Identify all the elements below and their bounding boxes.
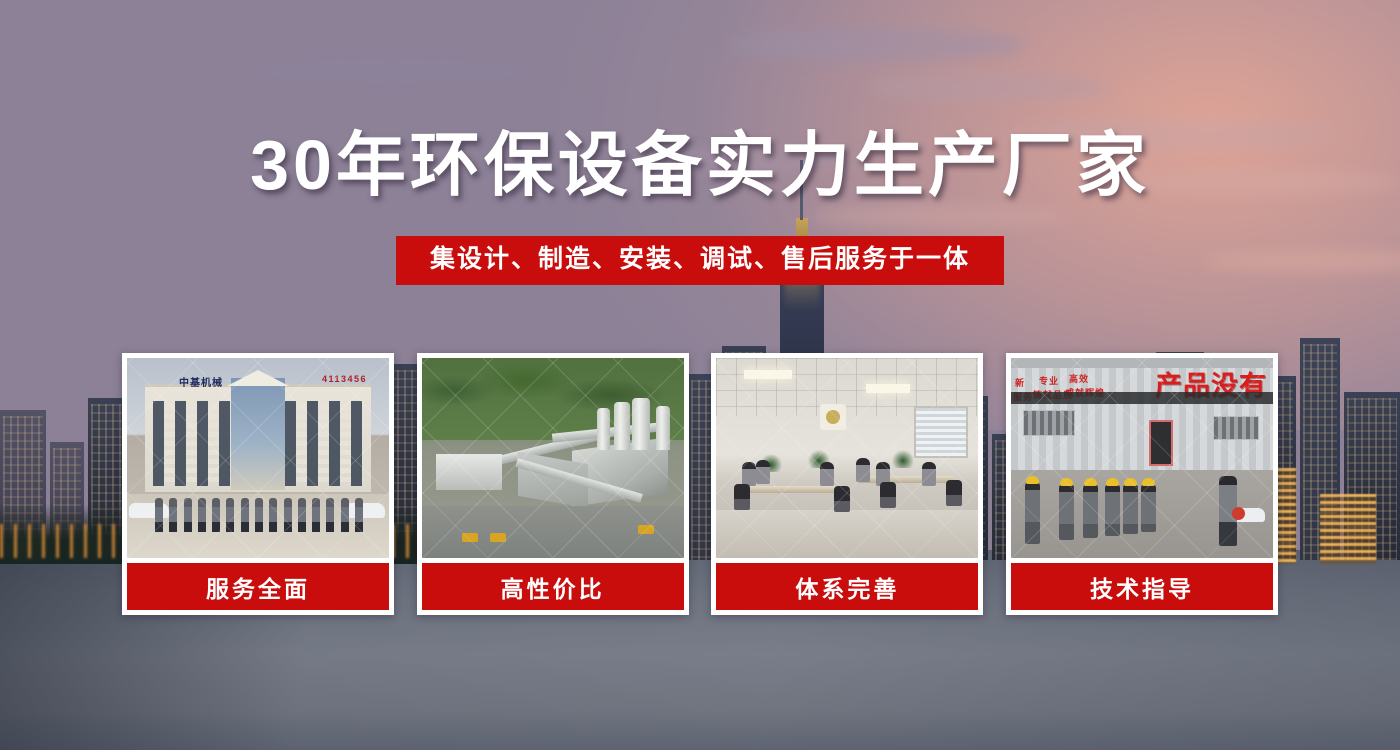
feature-card-caption: 技术指导: [1011, 563, 1273, 610]
cloud-shape: [252, 58, 532, 84]
illuminated-block: [1320, 494, 1376, 564]
factory-banner-small-text: 高效: [1069, 372, 1089, 385]
building-phone-text: 4113456: [322, 374, 367, 384]
subtitle-banner-wrap: 集设计、制造、安装、调试、售后服务于一体: [0, 236, 1400, 285]
factory-banner-small-text: 专业: [1039, 374, 1059, 387]
cloud-shape: [812, 205, 1072, 227]
cloud-shape: [868, 74, 1108, 100]
feature-card-list: 中基机械 4113456 服务全面: [122, 353, 1278, 615]
feature-card-caption: 高性价比: [422, 563, 684, 610]
page-title: 30年环保设备实力生产厂家: [0, 130, 1400, 200]
company-headquarters-building-photo: 中基机械 4113456: [127, 358, 389, 558]
feature-card[interactable]: 产品没有 新 专业 高效 服务 铸就品质 成就辉煌: [1006, 353, 1278, 615]
feature-card[interactable]: 中基机械 4113456 服务全面: [122, 353, 394, 615]
building-sign-text: 中基机械: [179, 374, 223, 389]
workers-training-factory-photo: 产品没有 新 专业 高效 服务 铸就品质 成就辉煌: [1011, 358, 1273, 558]
promo-banner: 30年环保设备实力生产厂家 集设计、制造、安装、调试、售后服务于一体 中基机械 …: [0, 0, 1400, 750]
feature-card-caption: 服务全面: [127, 563, 389, 610]
cloud-shape: [728, 28, 1028, 62]
feature-card[interactable]: 体系完善: [711, 353, 983, 615]
feature-card[interactable]: 高性价比: [417, 353, 689, 615]
aerial-production-plant-photo: [422, 358, 684, 558]
subtitle-banner: 集设计、制造、安装、调试、售后服务于一体: [396, 236, 1004, 285]
office-interior-staff-photo: [716, 358, 978, 558]
feature-card-caption: 体系完善: [716, 563, 978, 610]
factory-banner-small-text: 新: [1015, 376, 1025, 389]
